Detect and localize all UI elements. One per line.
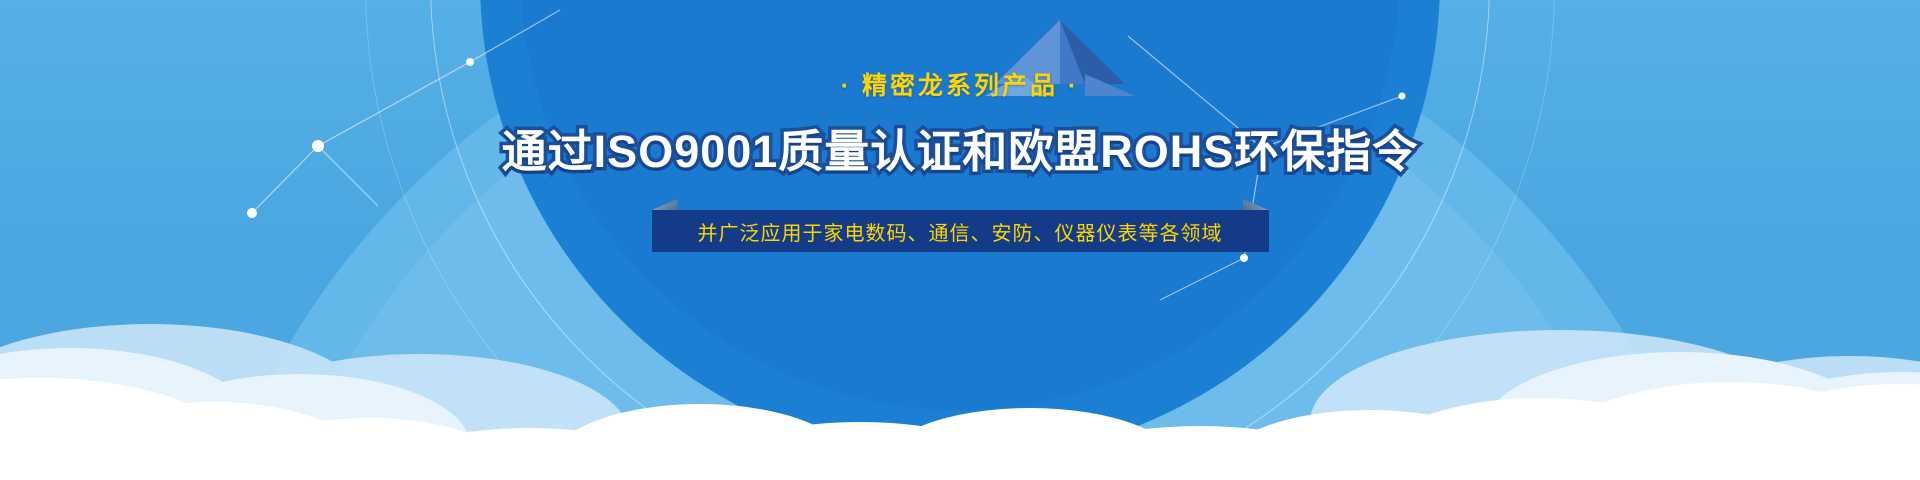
- promo-banner: · 精密龙系列产品 · 通过ISO9001质量认证和欧盟ROHS环保指令 并广泛…: [0, 0, 1920, 480]
- ribbon-fold-left: [652, 199, 678, 210]
- ribbon-fold-right: [1243, 199, 1269, 210]
- banner-headline: 通过ISO9001质量认证和欧盟ROHS环保指令: [502, 129, 1419, 174]
- banner-content: · 精密龙系列产品 · 通过ISO9001质量认证和欧盟ROHS环保指令 并广泛…: [0, 0, 1920, 480]
- banner-eyebrow: · 精密龙系列产品 ·: [841, 74, 1080, 99]
- banner-subtitle: 并广泛应用于家电数码、通信、安防、仪器仪表等各领域: [652, 210, 1269, 252]
- subtitle-ribbon-wrap: 并广泛应用于家电数码、通信、安防、仪器仪表等各领域: [652, 210, 1269, 252]
